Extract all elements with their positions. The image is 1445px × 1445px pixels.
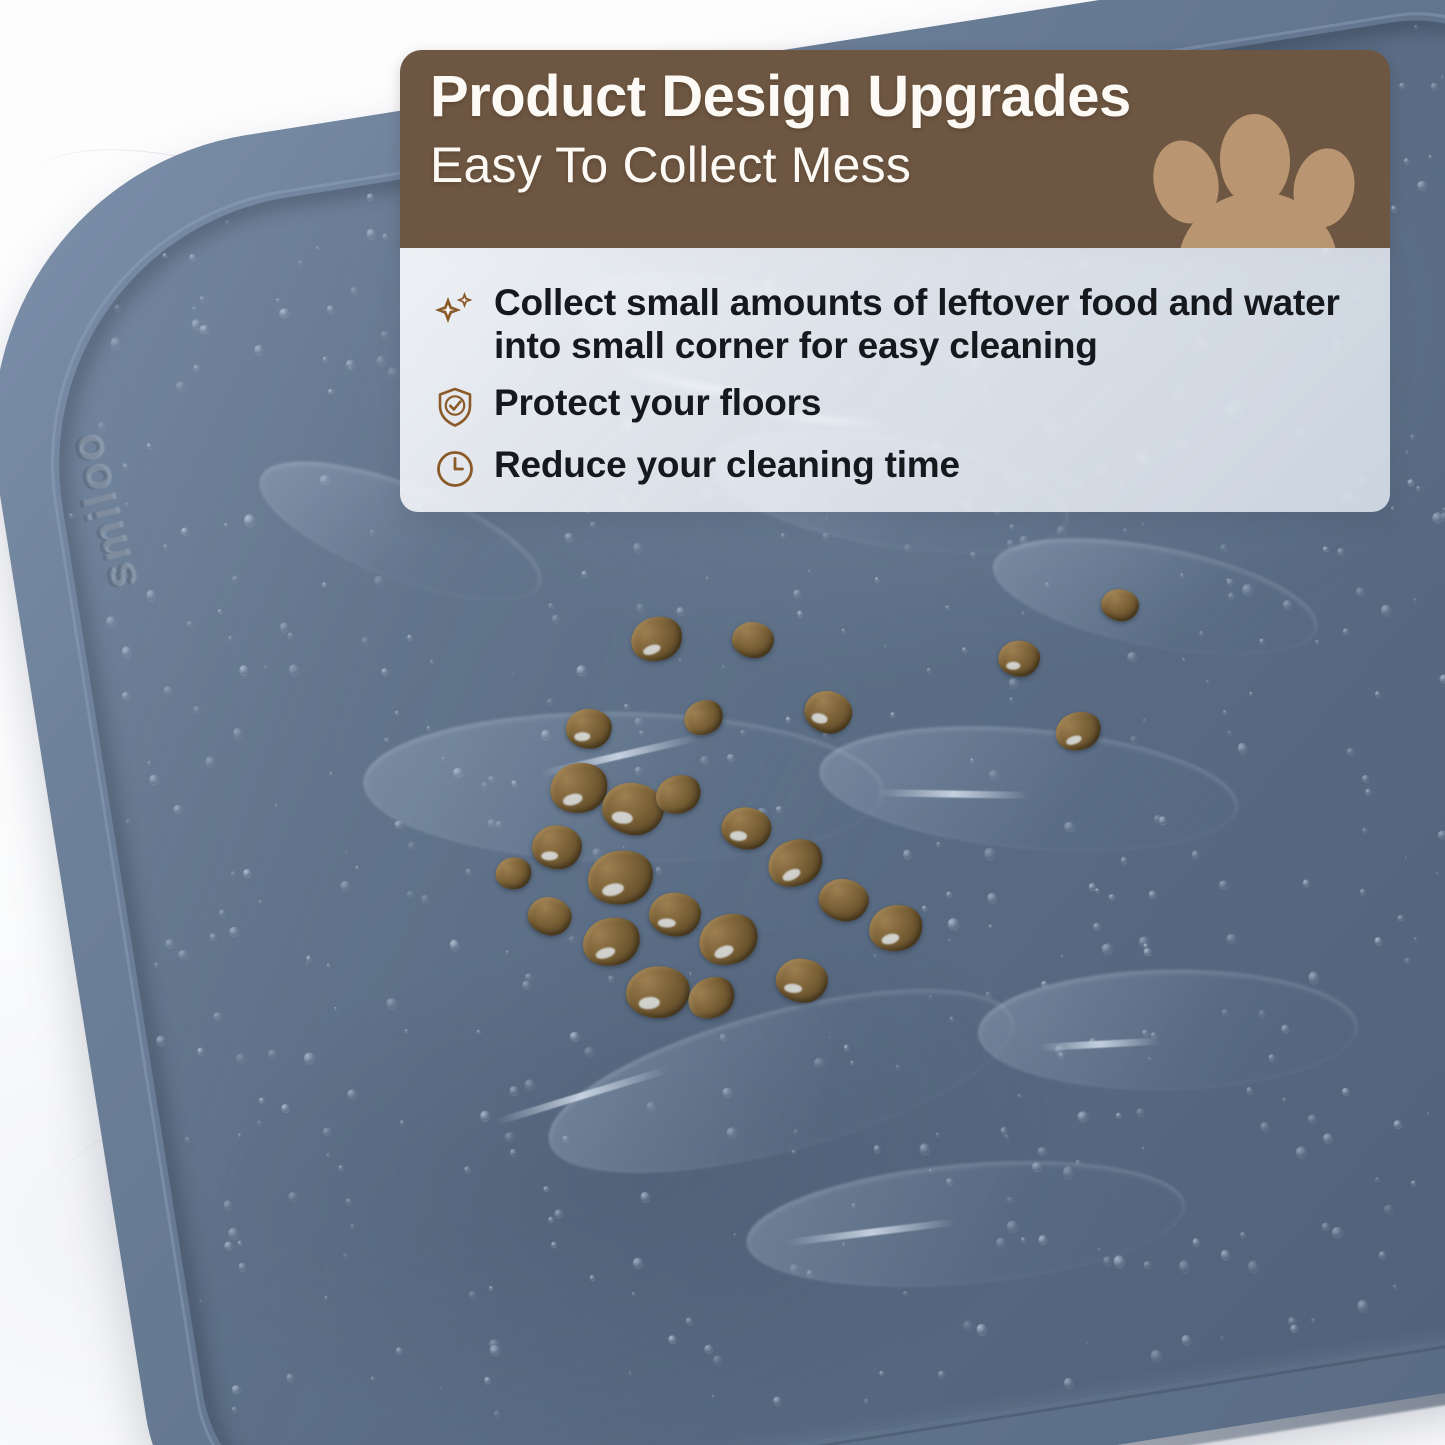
water-droplet	[706, 576, 709, 578]
water-droplet	[366, 228, 377, 240]
water-droplet	[1086, 1341, 1089, 1344]
water-droplet	[1150, 1349, 1163, 1363]
water-droplet	[948, 938, 951, 941]
water-droplet	[988, 924, 992, 928]
water-droplet	[1124, 528, 1128, 531]
water-droplet	[548, 602, 554, 607]
water-droplet	[338, 1165, 343, 1170]
water-droplet	[1413, 937, 1417, 941]
water-droplet	[984, 847, 997, 861]
sparkle-icon	[432, 288, 478, 334]
water-droplet	[1346, 748, 1354, 756]
water-droplet	[192, 705, 201, 713]
water-droplet	[921, 905, 927, 910]
water-droplet	[1342, 1087, 1350, 1096]
water-droplet	[1260, 1122, 1271, 1132]
water-droplet	[227, 1227, 239, 1240]
water-droplet	[69, 512, 74, 517]
water-droplet	[334, 1007, 337, 1010]
shield-check-icon	[432, 384, 478, 430]
water-droplet	[228, 636, 233, 641]
water-droplet	[935, 1132, 939, 1137]
water-droplet	[209, 933, 217, 941]
water-droplet	[180, 527, 189, 536]
water-droplet	[926, 667, 930, 672]
water-droplet	[1437, 830, 1445, 839]
water-droplet	[569, 1031, 580, 1041]
water-droplet	[162, 544, 168, 551]
water-droplet	[232, 728, 243, 740]
water-droplet	[361, 637, 370, 646]
water-droplet	[938, 1370, 946, 1378]
water-droplet	[1009, 697, 1014, 702]
water-droplet	[199, 1299, 201, 1301]
water-droplet	[576, 665, 588, 676]
water-droplet	[1061, 954, 1064, 957]
water-droplet	[275, 803, 278, 806]
water-droplet	[553, 1209, 563, 1219]
water-droplet	[1237, 742, 1248, 754]
water-droplet	[631, 1292, 636, 1297]
water-droplet	[186, 620, 194, 628]
water-droplet	[154, 962, 159, 968]
water-droplet	[1141, 522, 1145, 525]
water-droplet	[395, 1346, 404, 1355]
water-droplet	[1249, 692, 1253, 695]
water-droplet	[890, 712, 895, 718]
water-droplet	[1383, 1204, 1395, 1214]
water-droplet	[632, 542, 643, 554]
water-droplet	[976, 1323, 988, 1336]
water-droplet	[329, 772, 332, 775]
water-droplet	[628, 1371, 631, 1374]
water-droplet	[244, 514, 256, 528]
water-droplet	[1381, 604, 1392, 616]
clock-icon	[432, 446, 478, 492]
water-droplet	[405, 1029, 409, 1033]
water-droplet	[792, 589, 801, 598]
water-droplet	[1311, 1317, 1316, 1322]
water-droplet	[636, 603, 644, 612]
water-droplet	[1220, 1249, 1231, 1260]
water-droplet	[1429, 155, 1433, 158]
water-droplet	[551, 614, 560, 623]
water-droplet	[288, 1191, 298, 1201]
water-droplet	[1391, 506, 1394, 510]
water-droplet	[387, 366, 399, 378]
water-droplet	[1417, 180, 1429, 191]
water-droplet	[1441, 75, 1444, 78]
water-droplet	[464, 1166, 470, 1173]
water-droplet	[590, 521, 596, 527]
water-droplet	[1290, 1325, 1299, 1333]
water-droplet	[193, 365, 200, 371]
water-droplet	[1226, 934, 1236, 944]
water-droplet	[440, 1386, 443, 1389]
feature-item: Protect your floors	[432, 382, 1362, 430]
water-droplet	[122, 463, 128, 469]
water-droplet	[879, 1370, 884, 1375]
water-droplet	[326, 963, 330, 967]
water-droplet	[1095, 888, 1099, 892]
water-droplet	[1407, 478, 1415, 485]
water-droplet	[510, 1148, 517, 1156]
water-droplet	[126, 818, 131, 824]
water-droplet	[1191, 850, 1200, 859]
water-droplet	[145, 589, 156, 601]
water-droplet	[512, 672, 515, 674]
water-droplet	[1362, 827, 1368, 832]
water-droplet	[1227, 730, 1233, 735]
water-droplet	[632, 1257, 644, 1268]
water-droplet	[326, 1152, 331, 1157]
water-droplet	[279, 622, 289, 633]
water-droplet	[232, 1407, 238, 1413]
water-droplet	[386, 997, 398, 1009]
water-droplet	[407, 635, 412, 641]
water-droplet	[1411, 1180, 1416, 1185]
water-droplet	[156, 1035, 167, 1046]
water-droplet	[608, 975, 615, 982]
water-droplet	[407, 842, 416, 850]
water-droplet	[322, 356, 328, 362]
water-droplet	[281, 1103, 290, 1112]
water-droplet	[873, 1145, 881, 1153]
water-droplet	[1143, 1260, 1152, 1268]
water-droplet	[1359, 889, 1366, 895]
water-droplet	[1008, 677, 1019, 688]
water-droplet	[1393, 1284, 1397, 1288]
water-droplet	[568, 935, 577, 943]
water-droplet	[780, 533, 785, 538]
water-droplet	[506, 950, 509, 953]
water-droplet	[345, 850, 348, 852]
water-droplet	[884, 644, 886, 646]
water-droplet	[1108, 893, 1116, 900]
water-droplet	[1303, 879, 1311, 887]
water-droplet	[148, 773, 159, 785]
water-droplet	[524, 1078, 536, 1089]
water-droplet	[121, 691, 130, 699]
water-droplet	[1182, 658, 1185, 661]
water-puddle	[742, 1145, 1191, 1303]
water-droplet	[797, 610, 803, 617]
water-droplet	[1148, 890, 1157, 899]
water-droplet	[328, 388, 334, 393]
water-droplet	[316, 246, 319, 249]
water-droplet	[550, 1241, 557, 1248]
water-droplet	[205, 756, 216, 768]
water-droplet	[237, 1241, 242, 1246]
water-droplet	[1219, 879, 1229, 889]
water-droplet	[1362, 775, 1370, 783]
water-droplet	[173, 804, 184, 814]
water-droplet	[426, 725, 431, 730]
water-droplet	[1322, 1132, 1334, 1144]
water-droplet	[919, 1142, 931, 1155]
water-droplet	[1064, 1377, 1074, 1388]
water-droplet	[1295, 1146, 1307, 1158]
water-droplet	[961, 647, 968, 653]
feature-item-label: Reduce your cleaning time	[494, 444, 960, 487]
water-droplet	[340, 880, 351, 892]
water-droplet	[278, 307, 290, 317]
water-droplet	[703, 1344, 714, 1353]
water-droplet	[257, 1120, 262, 1126]
water-droplet	[223, 1200, 232, 1210]
water-droplet	[235, 1052, 247, 1063]
water-droplet	[228, 926, 239, 936]
water-droplet	[185, 1136, 191, 1142]
water-droplet	[656, 867, 663, 874]
water-droplet	[712, 1394, 715, 1397]
water-droplet	[841, 628, 845, 632]
water-droplet	[864, 1398, 868, 1403]
water-droplet	[547, 699, 553, 706]
water-droplet	[258, 1097, 265, 1103]
water-droplet	[326, 304, 335, 313]
water-droplet	[1101, 943, 1113, 954]
water-droplet	[1143, 719, 1146, 722]
water-droplet	[191, 318, 201, 329]
water-droplet	[1393, 1120, 1402, 1129]
water-droplet	[322, 1127, 332, 1136]
water-droplet	[288, 663, 300, 676]
water-droplet	[1113, 1254, 1125, 1267]
water-droplet	[1379, 1250, 1387, 1259]
water-droplet	[1315, 639, 1320, 644]
water-droplet	[178, 950, 189, 959]
water-droplet	[1181, 1334, 1192, 1345]
water-droplet	[231, 871, 235, 875]
water-droplet	[163, 686, 173, 695]
water-droplet	[1427, 1112, 1430, 1115]
banner-title: Product Design Upgrades	[430, 66, 1364, 129]
water-droplet	[1357, 1299, 1369, 1312]
water-droplet	[469, 1291, 476, 1298]
water-droplet	[807, 569, 811, 573]
water-droplet	[589, 1275, 595, 1281]
water-droplet	[218, 609, 222, 613]
water-droplet	[987, 892, 998, 903]
water-droplet	[722, 664, 727, 668]
water-droplet	[1127, 651, 1138, 662]
water-droplet	[394, 710, 399, 715]
water-droplet	[689, 972, 692, 975]
water-droplet	[1441, 512, 1445, 520]
water-droplet	[479, 1110, 490, 1121]
water-droplet	[366, 193, 374, 201]
water-droplet	[199, 324, 210, 334]
water-droplet	[350, 286, 358, 294]
water-droplet	[1374, 936, 1382, 945]
water-droplet	[406, 890, 415, 898]
water-droplet	[1406, 450, 1410, 454]
water-droplet	[1374, 1176, 1380, 1181]
water-droplet	[936, 841, 942, 847]
water-droplet	[1206, 679, 1210, 683]
water-droplet	[945, 605, 950, 609]
water-droplet	[1331, 1226, 1343, 1237]
water-droplet	[243, 869, 252, 878]
water-droplet	[110, 337, 122, 350]
water-droplet	[489, 1286, 493, 1290]
water-droplet	[258, 900, 262, 903]
water-droplet	[121, 646, 132, 658]
water-droplet	[238, 1133, 241, 1136]
water-droplet	[1405, 856, 1407, 858]
water-droplet	[1192, 1238, 1201, 1247]
water-droplet	[218, 909, 226, 917]
water-droplet	[1414, 25, 1418, 29]
water-droplet	[188, 254, 196, 261]
water-droplet	[773, 1396, 782, 1405]
water-droplet	[382, 233, 389, 239]
water-droplet	[584, 1046, 595, 1057]
water-puddle	[814, 711, 1243, 867]
water-puddle	[977, 967, 1359, 1094]
water-droplet	[421, 894, 430, 904]
water-droplet	[1404, 158, 1410, 164]
water-droplet	[192, 306, 196, 310]
water-droplet	[163, 252, 169, 257]
water-droplet	[383, 737, 390, 743]
water-droplet	[1136, 1108, 1145, 1117]
water-droplet	[197, 1048, 204, 1055]
water-droplet	[356, 866, 359, 869]
water-droplet	[350, 1224, 355, 1229]
water-droplet	[224, 1241, 234, 1251]
water-droplet	[946, 891, 953, 898]
water-droplet	[1404, 957, 1411, 963]
water-droplet	[430, 659, 434, 663]
water-droplet	[165, 939, 175, 950]
water-droplet	[1307, 1114, 1317, 1124]
water-droplet	[874, 953, 878, 957]
water-droplet	[1430, 82, 1438, 90]
water-droplet	[902, 849, 912, 859]
water-droplet	[1439, 674, 1445, 684]
water-droplet	[213, 1011, 223, 1020]
water-droplet	[640, 1191, 651, 1202]
banner-subtitle: Easy To Collect Mess	[430, 137, 1364, 193]
water-droplet	[1093, 923, 1101, 931]
header-banner: Product Design Upgrades Easy To Collect …	[400, 50, 1390, 248]
water-droplet	[342, 1253, 347, 1257]
water-droplet	[875, 577, 880, 582]
water-droplet	[264, 665, 268, 669]
water-droplet	[679, 658, 681, 660]
water-droplet	[275, 297, 280, 302]
water-droplet	[564, 532, 574, 542]
water-droplet	[239, 665, 250, 676]
water-droplet	[963, 1320, 975, 1331]
feature-item-label: Collect small amounts of leftover food a…	[494, 282, 1362, 368]
water-droplet	[371, 1376, 375, 1380]
water-droplet	[349, 366, 351, 368]
water-droplet	[113, 304, 122, 312]
water-droplet	[903, 1291, 908, 1295]
water-droplet	[1397, 914, 1405, 921]
water-droplet	[298, 260, 304, 265]
water-droplet	[286, 1373, 294, 1381]
water-droplet	[1121, 856, 1128, 864]
water-droplet	[548, 1216, 555, 1222]
water-droplet	[543, 1186, 550, 1192]
water-droplet	[1017, 1093, 1022, 1097]
water-droplet	[685, 1317, 693, 1324]
water-droplet	[1116, 1112, 1122, 1119]
water-droplet	[1417, 486, 1421, 490]
water-droplet	[1343, 628, 1349, 635]
water-droplet	[1374, 690, 1380, 697]
water-droplet	[1391, 206, 1396, 212]
water-droplet	[346, 1198, 353, 1205]
water-droplet	[105, 615, 117, 627]
water-droplet	[225, 219, 230, 224]
water-droplet	[1365, 788, 1373, 795]
water-droplet	[1414, 598, 1418, 601]
water-droplet	[1410, 434, 1416, 440]
water-droplet	[1021, 612, 1024, 615]
water-droplet	[1220, 544, 1228, 551]
water-droplet	[400, 1120, 405, 1125]
water-droplet	[477, 1029, 481, 1033]
water-droplet	[1179, 1260, 1191, 1273]
water-droplet	[624, 703, 630, 709]
water-droplet	[484, 1376, 491, 1384]
water-droplet	[1247, 1260, 1259, 1273]
water-droplet	[1436, 871, 1439, 874]
water-droplet	[1239, 1231, 1246, 1238]
water-droplet	[676, 606, 686, 616]
water-droplet	[504, 1131, 515, 1142]
water-droplet	[306, 956, 312, 962]
water-droplet	[1143, 943, 1148, 948]
water-droplet	[238, 1262, 246, 1271]
water-droplet	[381, 668, 389, 676]
water-droplet	[668, 1335, 676, 1344]
water-droplet	[521, 980, 531, 990]
water-droplet	[509, 1085, 519, 1095]
water-droplet	[374, 575, 386, 587]
water-droplet	[1037, 1146, 1049, 1156]
water-droplet	[147, 443, 152, 448]
feature-item: Reduce your cleaning time	[432, 444, 1362, 492]
water-droplet	[1220, 1336, 1224, 1339]
water-droplet	[449, 939, 460, 951]
water-droplet	[200, 296, 206, 301]
water-droplet	[734, 1233, 737, 1235]
water-droplet	[1355, 587, 1365, 596]
water-droplet	[1322, 1222, 1330, 1230]
water-droplet	[1308, 971, 1320, 984]
water-droplet	[785, 716, 791, 722]
water-droplet	[231, 1384, 242, 1394]
feature-item: Collect small amounts of leftover food a…	[432, 282, 1362, 368]
water-droplet	[176, 381, 186, 391]
water-droplet	[346, 1088, 358, 1099]
water-droplet	[232, 574, 240, 582]
water-droplet	[465, 868, 472, 876]
water-droplet	[1399, 82, 1406, 88]
water-droplet	[380, 330, 390, 339]
water-droplet	[324, 1296, 327, 1299]
water-droplet	[148, 761, 151, 764]
water-droplet	[493, 1410, 500, 1417]
water-droplet	[1143, 947, 1152, 956]
water-droplet	[1282, 1098, 1286, 1101]
